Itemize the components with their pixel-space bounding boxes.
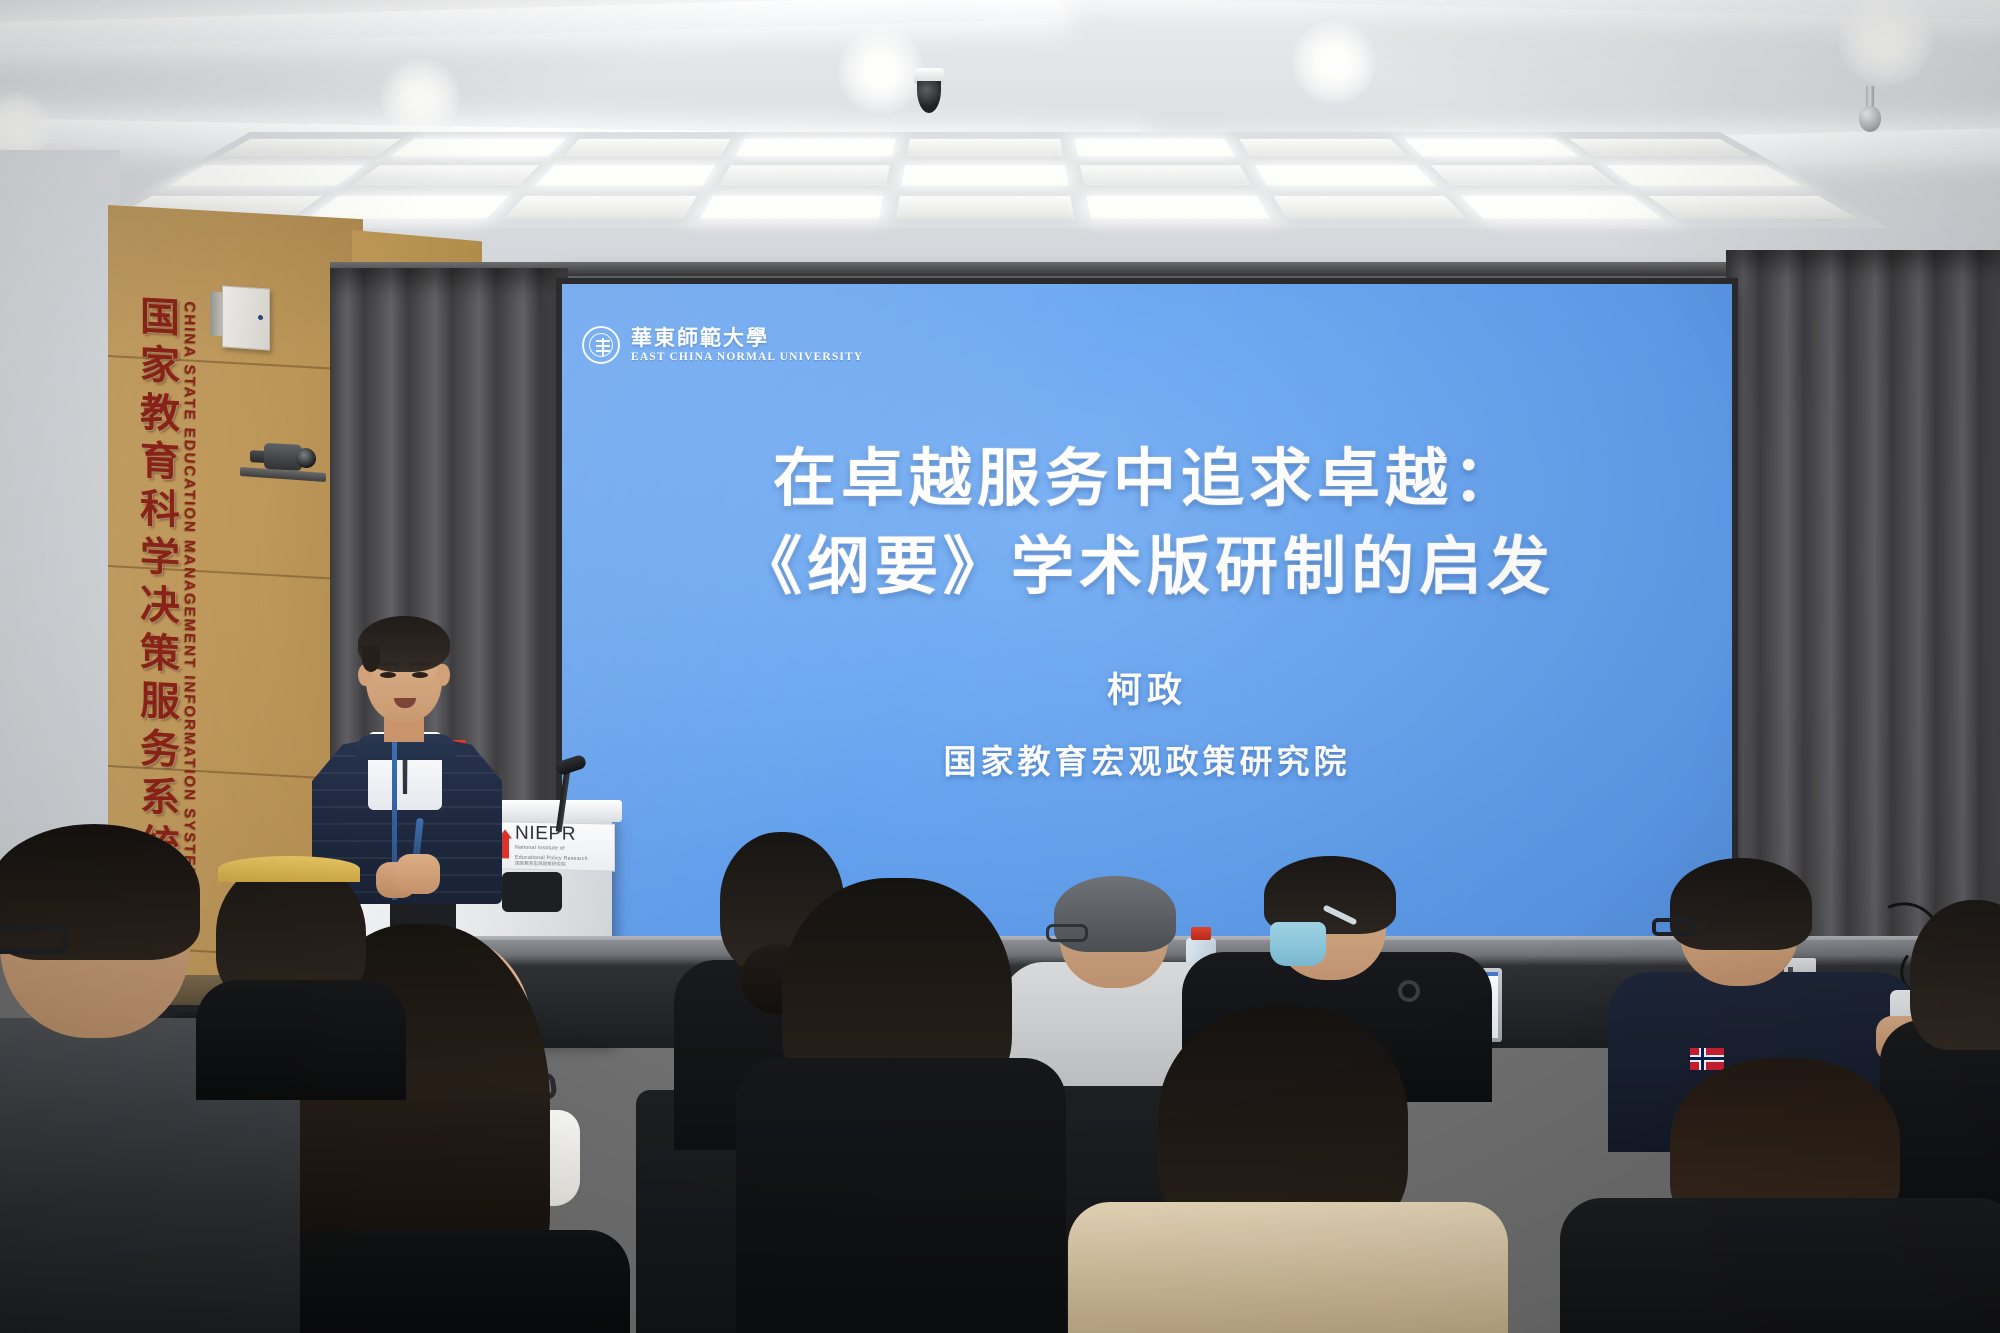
attendee-headband xyxy=(196,848,396,1088)
niepr-subtitle-1: National Institute of xyxy=(515,845,588,854)
headband-icon xyxy=(218,856,360,882)
downlight-icon xyxy=(1292,20,1376,104)
niepr-subtitle-cn: 国家教育宏观政策研究院 xyxy=(515,863,588,869)
glasses-icon xyxy=(1046,924,1088,942)
downlight-icon xyxy=(380,58,460,138)
lecture-hall-photo: 国家教育科学决策服务系统 CHINA STATE EDUCATION MANAG… xyxy=(0,0,2000,1333)
coffered-ceiling xyxy=(81,132,1890,228)
attendee-long-hair-center xyxy=(740,878,1040,1333)
logo-chinese-name: 華東師範大學 xyxy=(631,327,863,349)
logo-english-name: EAST CHINA NORMAL UNIVERSITY xyxy=(631,351,863,363)
attendee-cream-coat xyxy=(1078,1006,1488,1333)
left-wall xyxy=(0,150,120,910)
glasses-icon xyxy=(0,924,68,954)
glasses-icon xyxy=(1652,918,1696,936)
niepr-acronym: NIEPR xyxy=(515,824,588,845)
slide-title-line2: 《纲要》学术版研制的启发 xyxy=(562,522,1732,610)
slide-title-line1: 在卓越服务中追求卓越： xyxy=(562,434,1732,522)
attendee-foreground-left xyxy=(1560,1058,1980,1333)
ptz-camera-icon xyxy=(250,436,320,476)
slide-content: 在卓越服务中追求卓越： 《纲要》学术版研制的启发 柯政 国家教育宏观政策研究院 xyxy=(562,434,1732,783)
university-logo: 華東師範大學 EAST CHINA NORMAL UNIVERSITY xyxy=(582,326,863,364)
slide-presenter-name: 柯政 xyxy=(562,662,1732,713)
face-mask-icon xyxy=(1270,922,1326,966)
downlight-icon xyxy=(1838,0,1934,86)
wall-banner-chinese: 国家教育科学决策服务系统 xyxy=(132,294,176,872)
ceiling-dome-camera-icon xyxy=(912,68,946,116)
ecnu-seal-icon xyxy=(582,326,620,364)
sprinkler-head-icon xyxy=(1855,86,1885,132)
wall-banner-english: CHINA STATE EDUCATION MANAGEMENT INFORMA… xyxy=(176,301,198,883)
slide-affiliation: 国家教育宏观政策研究院 xyxy=(562,735,1732,783)
wall-speaker-icon xyxy=(222,285,270,350)
